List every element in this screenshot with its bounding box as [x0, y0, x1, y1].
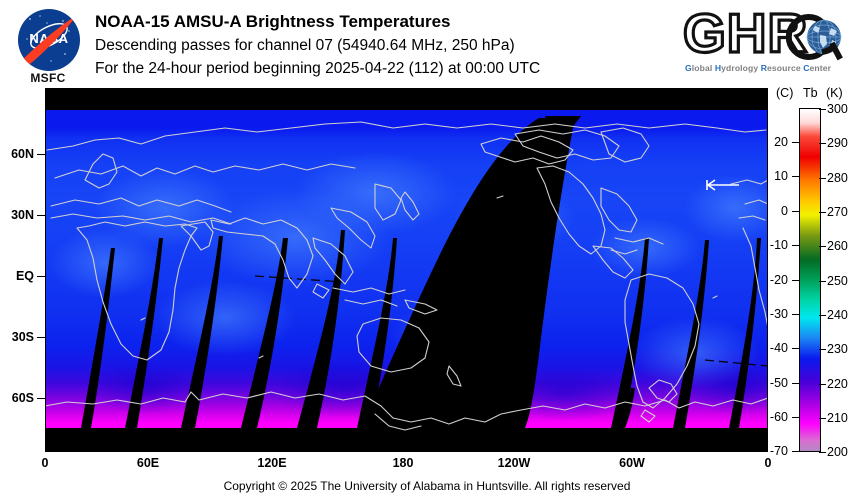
cbar-label-c--70: -70 — [752, 444, 788, 458]
cbar-label-k-220: 220 — [827, 377, 848, 391]
nasa-center-label: MSFC — [10, 71, 86, 85]
cbar-label-c--60: -60 — [752, 410, 788, 424]
cbar-label-k-240: 240 — [827, 308, 848, 322]
cbar-label-k-230: 230 — [827, 342, 848, 356]
cbar-tick-k-300 — [819, 109, 826, 110]
nasa-meatball-icon: NASA — [18, 9, 80, 71]
page-title: NOAA-15 AMSU-A Brightness Temperatures — [95, 10, 675, 34]
lat-label-30s: 30S — [0, 330, 34, 344]
colorbar-unit-kelvin: (K) — [826, 86, 843, 100]
cbar-tick-k-280 — [819, 178, 826, 179]
title-subline-1: Descending passes for channel 07 (54940.… — [95, 34, 675, 57]
cbar-label-c--10: -10 — [752, 238, 788, 252]
cbar-label-k-280: 280 — [827, 171, 848, 185]
cbar-label-c--50: -50 — [752, 376, 788, 390]
cbar-tick-c-0 — [792, 211, 799, 212]
lat-tick-60s — [37, 398, 45, 399]
ghrc-logo: GHR Global Hydrology Resource Center — [683, 6, 849, 82]
copyright-notice: Copyright © 2025 The University of Alaba… — [0, 479, 854, 493]
title-subline-2: For the 24-hour period beginning 2025-04… — [95, 57, 675, 80]
brightness-temperature-map[interactable] — [45, 88, 768, 452]
cbar-label-k-210: 210 — [827, 411, 848, 425]
lon-label-180: 180 — [381, 456, 425, 470]
cbar-tick-k-290 — [819, 143, 826, 144]
lat-tick-30s — [37, 337, 45, 338]
cbar-label-c--30: -30 — [752, 307, 788, 321]
cbar-tick-c-20 — [792, 142, 799, 143]
lat-label-30n: 30N — [0, 208, 34, 222]
cbar-label-k-270: 270 — [827, 205, 848, 219]
cbar-tick-c--60 — [792, 417, 799, 418]
cbar-label-c--20: -20 — [752, 273, 788, 287]
cbar-tick-c--70 — [792, 451, 799, 452]
cbar-label-k-250: 250 — [827, 274, 848, 288]
cbar-tick-c--10 — [792, 245, 799, 246]
map-raster — [45, 88, 768, 452]
cbar-tick-c--30 — [792, 314, 799, 315]
cbar-label-c-20: 20 — [752, 135, 788, 149]
lon-label-60w: 60W — [610, 456, 654, 470]
nasa-msfc-logo: NASA MSFC — [10, 9, 86, 87]
cbar-tick-k-200 — [819, 452, 826, 453]
colorbar-gradient — [800, 109, 820, 451]
lon-label-0: 0 — [25, 456, 65, 470]
cbar-label-k-200: 200 — [827, 445, 848, 459]
cbar-tick-k-260 — [819, 246, 826, 247]
ghrc-acronym-icon: GHR — [683, 6, 849, 64]
cbar-label-c-0: 0 — [752, 204, 788, 218]
lon-label-0-right: 0 — [748, 456, 788, 470]
lon-label-120w: 120W — [489, 456, 539, 470]
colorbar[interactable] — [799, 108, 821, 452]
lon-label-120e: 120E — [247, 456, 297, 470]
lat-label-eq: EQ — [0, 269, 34, 283]
ghrc-subtitle: Global Hydrology Resource Center — [685, 63, 847, 77]
cbar-tick-c--40 — [792, 348, 799, 349]
cbar-tick-c-10 — [792, 176, 799, 177]
lat-tick-eq — [37, 276, 45, 277]
lon-label-60e: 60E — [126, 456, 170, 470]
cbar-tick-k-250 — [819, 281, 826, 282]
cbar-label-k-290: 290 — [827, 136, 848, 150]
cbar-tick-k-270 — [819, 212, 826, 213]
lat-label-60s: 60S — [0, 391, 34, 405]
title-block: NOAA-15 AMSU-A Brightness Temperatures D… — [95, 10, 675, 80]
pass-direction-arrow-icon — [705, 178, 741, 192]
colorbar-unit-celsius: (C) — [776, 86, 793, 100]
lat-label-60n: 60N — [0, 147, 34, 161]
app-root: NASA MSFC NOAA-15 AMSU-A Brightness Temp… — [0, 0, 854, 502]
cbar-label-k-300: 300 — [827, 102, 848, 116]
lat-tick-60n — [37, 154, 45, 155]
cbar-tick-c--20 — [792, 280, 799, 281]
cbar-tick-c--50 — [792, 383, 799, 384]
cbar-label-c--40: -40 — [752, 341, 788, 355]
cbar-label-k-260: 260 — [827, 239, 848, 253]
nasa-swoosh-icon — [18, 9, 80, 71]
cbar-label-c-10: 10 — [752, 169, 788, 183]
cbar-tick-k-220 — [819, 384, 826, 385]
lat-tick-30n — [37, 215, 45, 216]
cbar-tick-k-230 — [819, 349, 826, 350]
colorbar-variable-label: Tb — [803, 86, 818, 100]
cbar-tick-k-210 — [819, 418, 826, 419]
cbar-tick-k-240 — [819, 315, 826, 316]
